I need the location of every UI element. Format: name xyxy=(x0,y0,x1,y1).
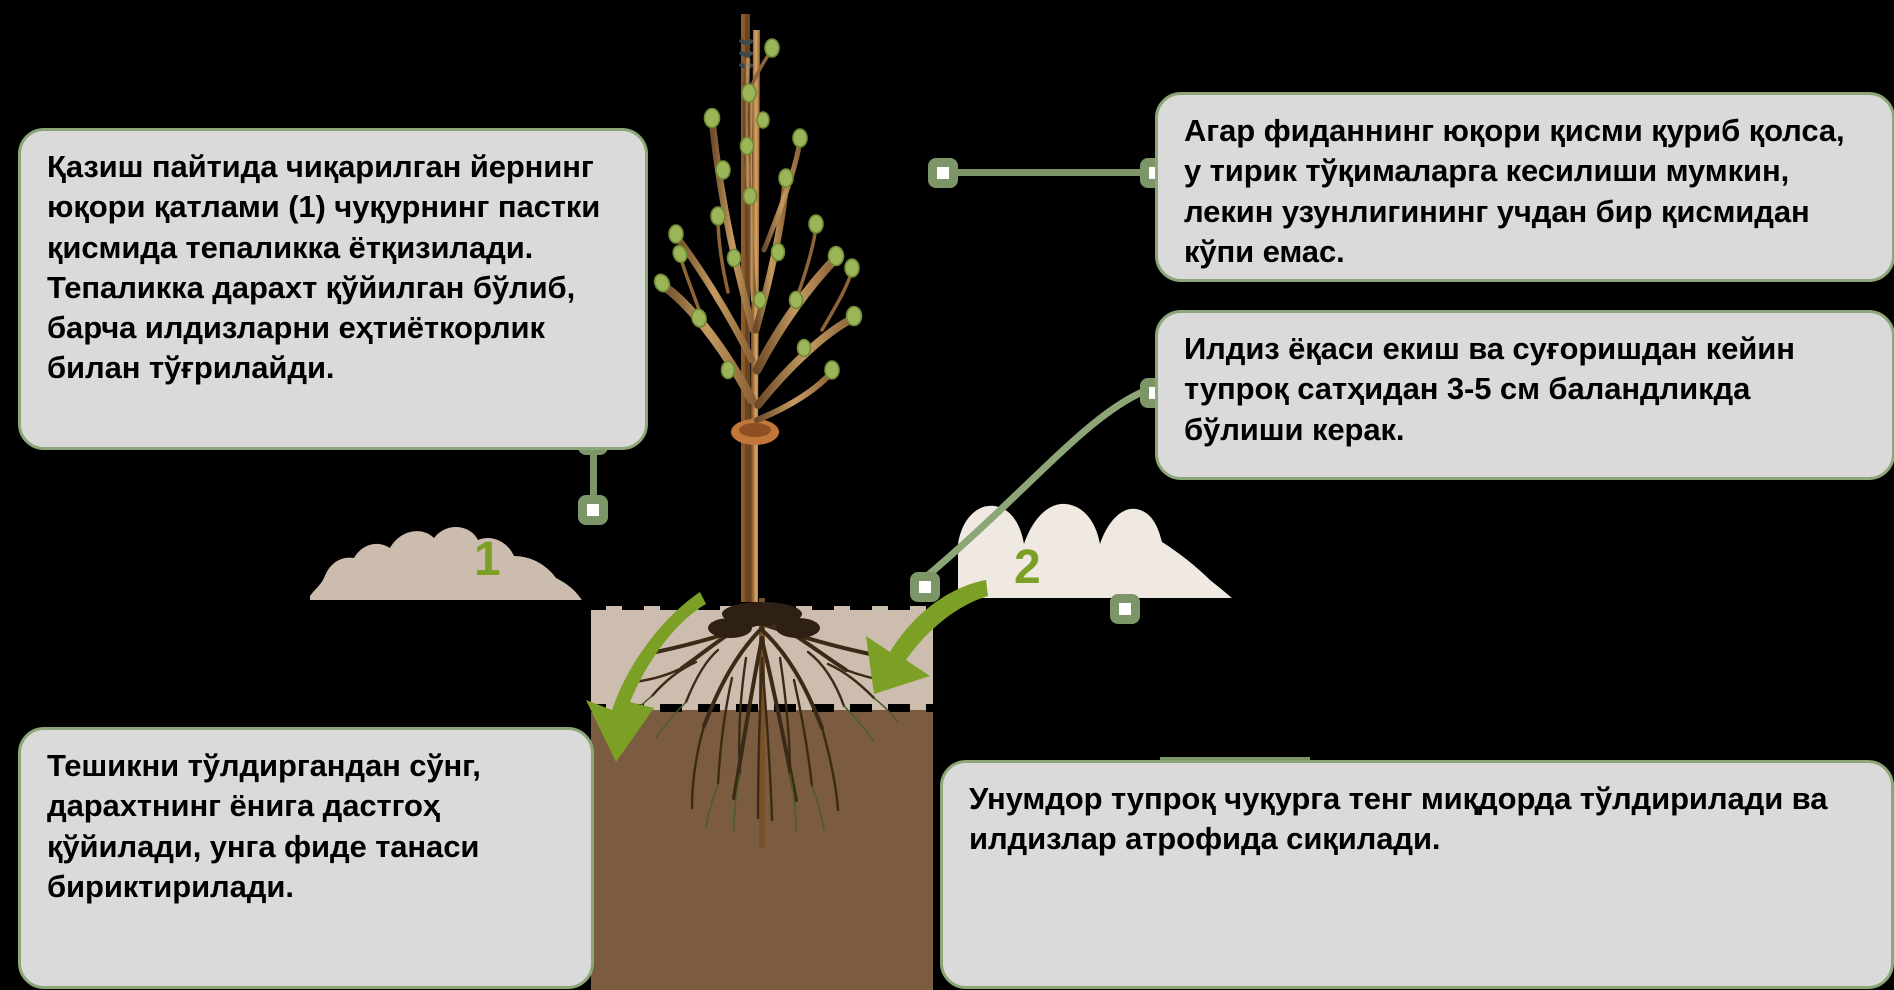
connector-node-icon[interactable] xyxy=(1110,594,1140,624)
callout-top-text: Агар фиданнинг юқори қисми қуриб қолса, … xyxy=(1184,111,1866,272)
callout-collar-text: Илдиз ёқаси екиш ва суғоришдан кейин туп… xyxy=(1184,329,1866,450)
callout-root-collar[interactable]: Илдиз ёқаси екиш ва суғоришдан кейин туп… xyxy=(1155,310,1894,480)
mound-one-label: 1 xyxy=(474,532,501,587)
callout-dig-topsoil[interactable]: Қазиш пайтида чиқарилган йернинг юқори қ… xyxy=(18,128,648,450)
soil-mound-one-icon xyxy=(306,500,592,608)
callout-fertile-soil[interactable]: Унумдор тупроқ чуқурга тенг миқдорда тўл… xyxy=(940,760,1894,989)
diagram-canvas: 1 2 Қазиш пайтида чиқарилган йернинг юқо… xyxy=(0,0,1894,990)
connector-node-icon[interactable] xyxy=(910,572,940,602)
callout-stake[interactable]: Тешикни тўлдиргандан сўнг, дарахтнинг ён… xyxy=(18,727,594,989)
callout-top-pruning[interactable]: Агар фиданнинг юқори қисми қуриб қолса, … xyxy=(1155,92,1894,282)
callout-dig-text: Қазиш пайтида чиқарилган йернинг юқори қ… xyxy=(47,147,619,389)
callout-fertile-text: Унумдор тупроқ чуқурга тенг миқдорда тўл… xyxy=(969,779,1865,860)
connector-node-icon[interactable] xyxy=(578,495,608,525)
connector-node-icon[interactable] xyxy=(928,158,958,188)
callout-stake-text: Тешикни тўлдиргандан сўнг, дарахтнинг ён… xyxy=(47,746,565,907)
connector-line-top xyxy=(940,169,1165,176)
